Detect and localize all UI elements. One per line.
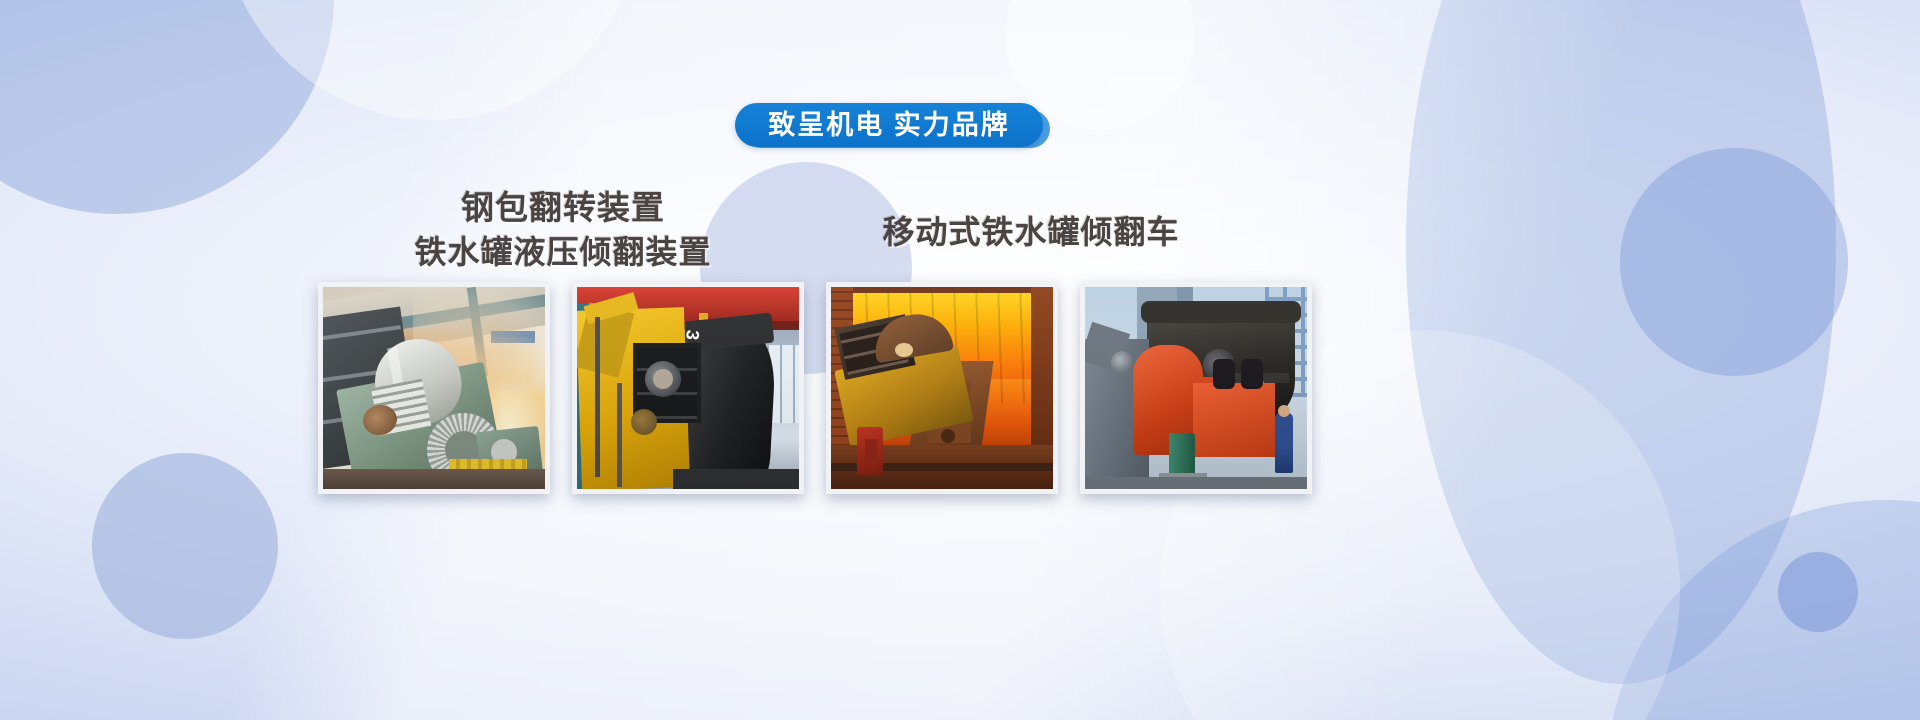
photo-hydraulic-ladle-tilter[interactable]: 3 (572, 282, 804, 494)
banner-stage: 致呈机电 实力品牌 钢包翻转装置 铁水罐液压倾翻装置 移动式铁水罐倾翻车 (0, 0, 1920, 720)
photo-2-image: 3 (577, 287, 799, 489)
photo-3-image (831, 287, 1053, 489)
photo-mobile-tilting-car-orange[interactable] (1080, 282, 1312, 494)
heading-left-line2: 铁水罐液压倾翻装置 (388, 230, 738, 274)
heading-right-line1: 移动式铁水罐倾翻车 (866, 210, 1196, 254)
brand-badge-pill: 致呈机电 实力品牌 (735, 103, 1043, 147)
heading-right: 移动式铁水罐倾翻车 (866, 210, 1196, 254)
decorative-circle-bottom-left (92, 453, 278, 639)
headings-row: 钢包翻转装置 铁水罐液压倾翻装置 移动式铁水罐倾翻车 (0, 186, 1920, 276)
photo-group-left: 3 (318, 282, 804, 494)
heading-left-line1: 钢包翻转装置 (388, 186, 738, 230)
brand-badge-text: 致呈机电 实力品牌 (768, 112, 1010, 139)
photo-4-image (1085, 287, 1307, 489)
photo-mobile-tilting-car-hot[interactable] (826, 282, 1058, 494)
photo-ladle-tilting-device[interactable] (318, 282, 550, 494)
photo-strip: 3 (318, 282, 1312, 494)
photo-1-image (323, 287, 545, 489)
heading-left: 钢包翻转装置 铁水罐液压倾翻装置 (388, 186, 738, 274)
photo-group-right (826, 282, 1312, 494)
brand-badge: 致呈机电 实力品牌 (735, 103, 1043, 147)
